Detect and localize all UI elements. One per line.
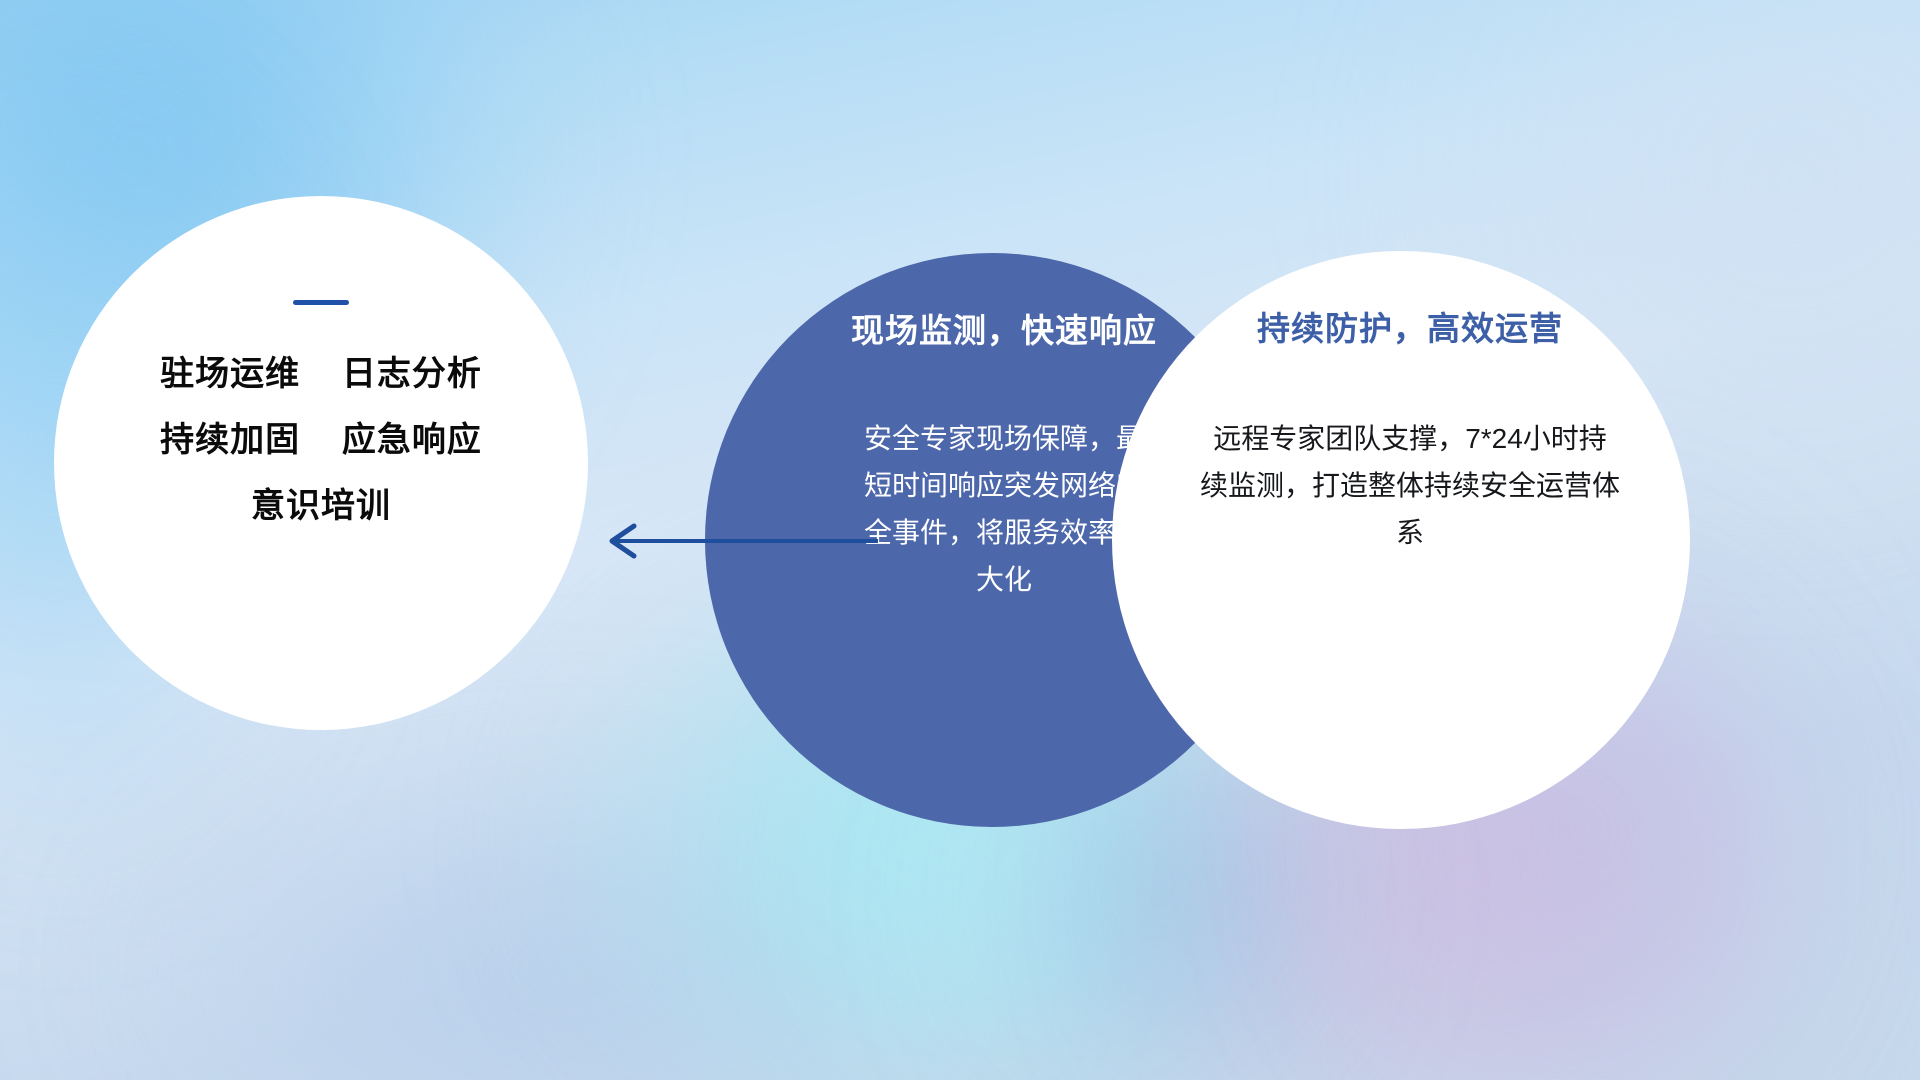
circle-continuous-protection[interactable]: 持续防护，高效运营 远程专家团队支撑，7*24小时持续监测，打造整体持续安全运营… [1112,251,1690,829]
circle-continuous-protection-title: 持续防护，高效运营 [1148,309,1672,349]
circle-service-capabilities-content: 驻场运维 日志分析 持续加固 应急响应 意识培训 [54,300,588,523]
capability-line-1: 驻场运维 日志分析 [54,357,588,391]
slide-canvas: 现场监测，快速响应 安全专家现场保障，最短时间响应突发网络安全事件，将服务效率最… [0,0,1920,1080]
arrow-left-icon [600,518,880,564]
arrow-left [600,518,880,564]
circle-continuous-protection-body: 远程专家团队支撑，7*24小时持续监测，打造整体持续安全运营体系 [1200,415,1620,556]
capability-line-3: 意识培训 [54,489,588,523]
circle-continuous-protection-content: 持续防护，高效运营 远程专家团队支撑，7*24小时持续监测，打造整体持续安全运营… [1148,309,1672,556]
circle-onsite-monitoring-body: 安全专家现场保障，最短时间响应突发网络安全事件，将服务效率最大化 [854,415,1154,603]
capability-line-2: 持续加固 应急响应 [54,423,588,457]
divider-dash [293,300,349,305]
circle-service-capabilities[interactable]: 驻场运维 日志分析 持续加固 应急响应 意识培训 [54,196,588,730]
